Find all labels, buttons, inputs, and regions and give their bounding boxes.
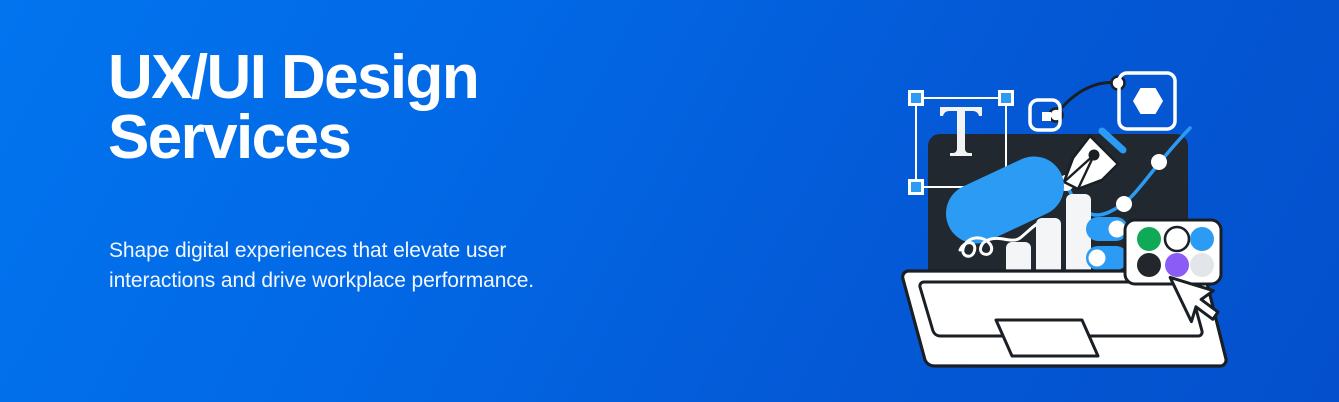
bar-chart-bar-2 — [1036, 218, 1061, 276]
hexagon-shape-node[interactable] — [1119, 73, 1175, 129]
page-title: UX/UI Design Services — [108, 48, 728, 168]
square-icon — [1042, 112, 1051, 121]
laptop-trackpad[interactable] — [996, 320, 1098, 356]
black-bezier-curve — [1056, 82, 1120, 115]
swatch-green[interactable] — [1137, 227, 1161, 251]
swatch-black[interactable] — [1137, 253, 1161, 277]
color-palette-card[interactable] — [1125, 220, 1221, 284]
ux-ui-design-illustration — [888, 52, 1228, 382]
hero-subtitle: Shape digital experiences that elevate u… — [109, 236, 534, 296]
swatch-white[interactable] — [1165, 227, 1189, 251]
swatch-purple[interactable] — [1165, 253, 1189, 277]
selection-handle-top-left[interactable] — [910, 92, 923, 105]
pen-nib-hole — [1089, 150, 1100, 161]
bar-chart-bar-3 — [1066, 194, 1091, 276]
bezier-anchor-3[interactable] — [1151, 154, 1167, 170]
illustration-svg — [888, 52, 1228, 382]
toggle-switch-on[interactable] — [1086, 217, 1128, 241]
toggle-switch-off[interactable] — [1086, 246, 1128, 270]
swatch-blue[interactable] — [1190, 227, 1214, 251]
toggle-on-knob — [1109, 221, 1126, 238]
hero-text-block: UX/UI Design Services Shape digital expe… — [108, 48, 728, 168]
hexagon-icon — [1133, 88, 1163, 114]
selection-handle-bottom-left[interactable] — [910, 181, 923, 194]
toggle-off-knob — [1089, 250, 1106, 267]
bezier-anchor-2[interactable] — [1116, 196, 1132, 212]
swatch-gray[interactable] — [1190, 253, 1214, 277]
selection-handle-top-right[interactable] — [1000, 92, 1013, 105]
hero-banner: UX/UI Design Services Shape digital expe… — [0, 0, 1339, 402]
